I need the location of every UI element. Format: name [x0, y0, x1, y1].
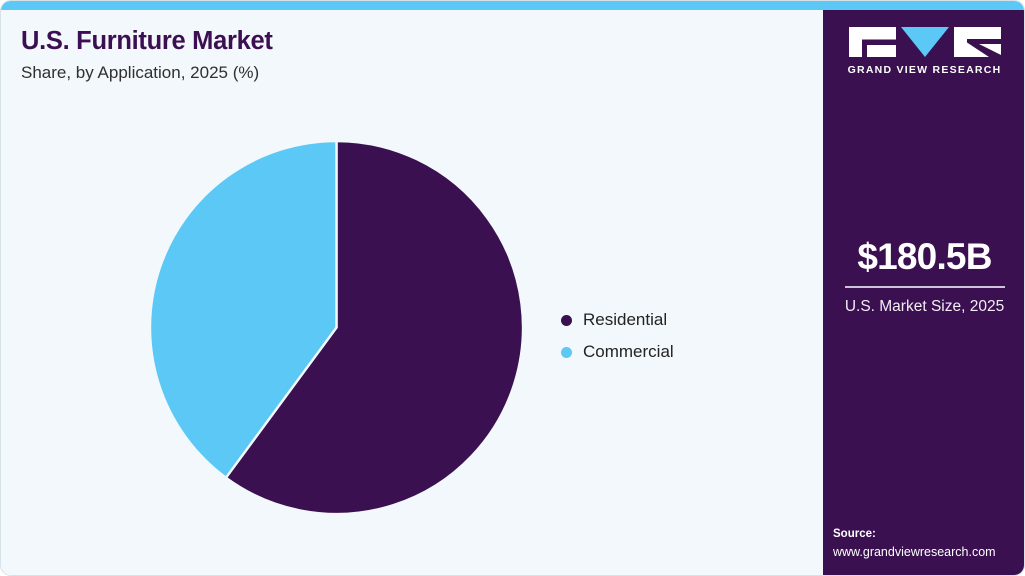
logo-r-mark: [954, 27, 1001, 57]
stat-caption: U.S. Market Size, 2025: [823, 297, 1025, 317]
logo-v-triangle: [901, 27, 949, 57]
top-accent-bar: [1, 1, 1025, 10]
logo-g-mark: [849, 27, 896, 57]
stat-value: $180.5B: [823, 238, 1025, 275]
chart-legend: Residential Commercial: [561, 304, 674, 368]
page-subtitle: Share, by Application, 2025 (%): [21, 63, 721, 83]
legend-swatch-commercial: [561, 347, 572, 358]
legend-item-commercial[interactable]: Commercial: [561, 336, 674, 368]
legend-swatch-residential: [561, 315, 572, 326]
source-label: Source:: [833, 526, 1025, 543]
pie-chart-svg: [150, 141, 523, 514]
source-block: Source: www.grandviewresearch.com: [833, 526, 1025, 561]
market-size-stat: $180.5B U.S. Market Size, 2025: [823, 238, 1025, 317]
page-title: U.S. Furniture Market: [21, 27, 721, 55]
legend-label-residential: Residential: [583, 310, 667, 330]
pie-chart: [150, 141, 523, 514]
chart-area: U.S. Furniture Market Share, by Applicat…: [1, 10, 823, 576]
stat-divider: [845, 286, 1005, 288]
logo-wordmark: GRAND VIEW RESEARCH: [823, 64, 1025, 76]
title-block: U.S. Furniture Market Share, by Applicat…: [21, 27, 721, 83]
legend-label-commercial: Commercial: [583, 342, 674, 362]
side-panel: GRAND VIEW RESEARCH $180.5B U.S. Market …: [823, 10, 1025, 576]
brand-logo: GRAND VIEW RESEARCH: [823, 27, 1025, 76]
logo-marks-svg: [849, 27, 1001, 57]
chart-card: U.S. Furniture Market Share, by Applicat…: [0, 0, 1025, 576]
source-url[interactable]: www.grandviewresearch.com: [833, 543, 1025, 561]
legend-item-residential[interactable]: Residential: [561, 304, 674, 336]
